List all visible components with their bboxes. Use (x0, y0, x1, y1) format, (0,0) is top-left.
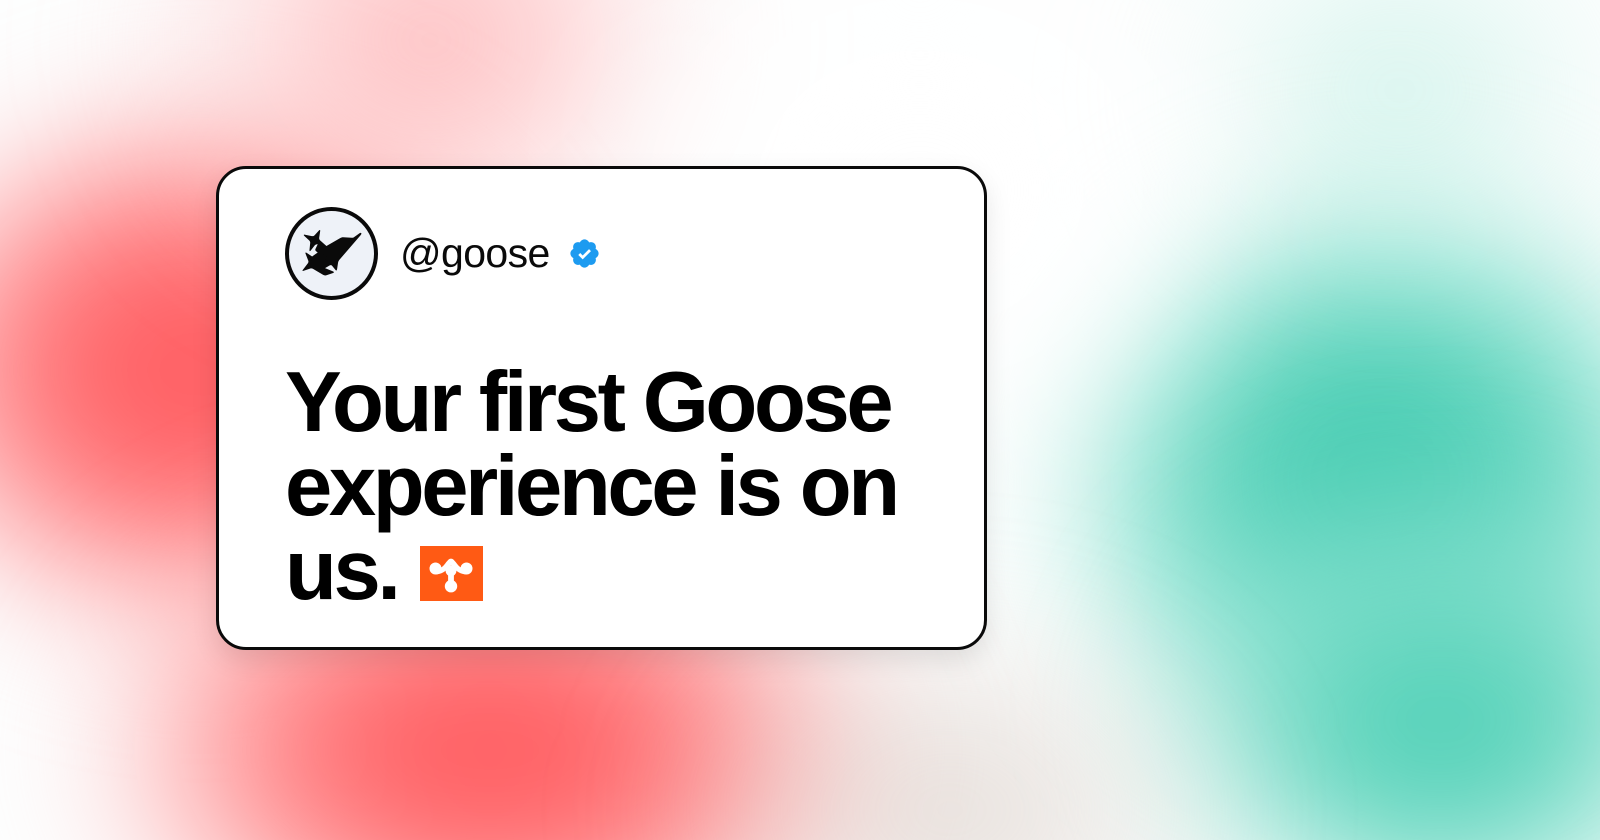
post-header: @goose (285, 207, 601, 300)
verified-badge-icon[interactable] (568, 237, 601, 270)
social-post-card: @goose Your first Goose experience is on… (216, 166, 987, 650)
goose-node-glyph-icon (429, 553, 473, 593)
avatar[interactable] (285, 207, 378, 300)
post-line-1: Your first Goose (285, 361, 945, 445)
post-body: Your first Goose experience is on us. (285, 361, 945, 613)
post-line-3-row: us. (285, 529, 945, 613)
post-line-2: experience is on (285, 445, 945, 529)
flying-goose-silhouette-icon (295, 217, 369, 291)
account-handle[interactable]: @goose (400, 233, 550, 274)
goose-emoji-tile (420, 546, 483, 601)
post-line-3: us. (285, 529, 398, 613)
